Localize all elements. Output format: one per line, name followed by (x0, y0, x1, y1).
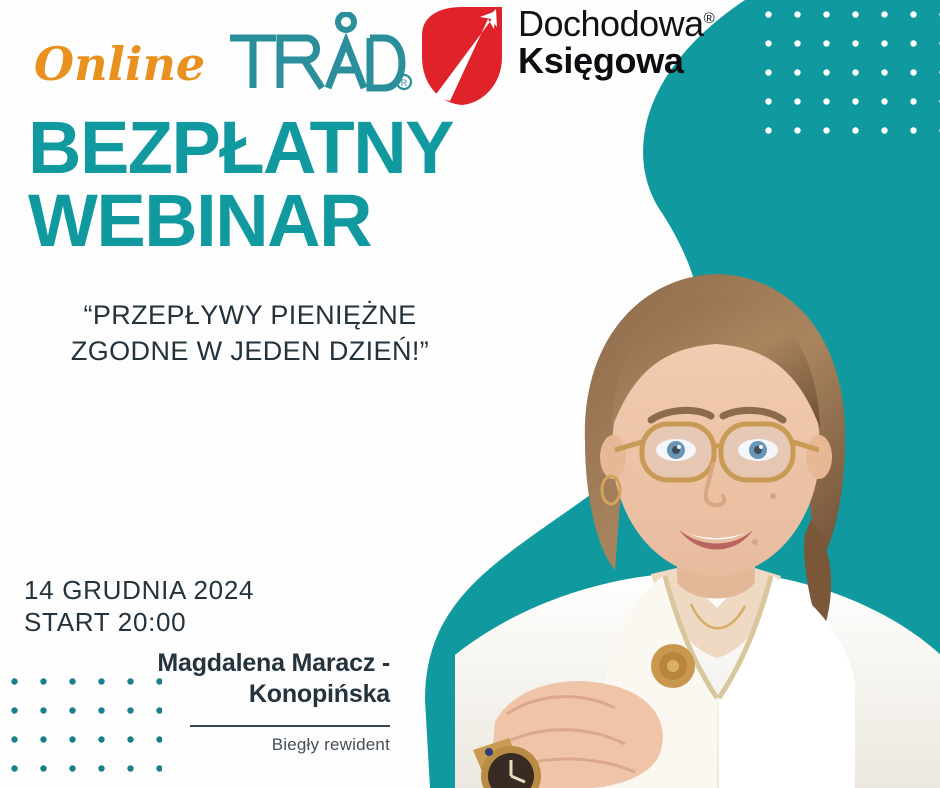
subtitle-line-2: ZGODNE W JEDEN DZIEŃ!” (30, 334, 470, 370)
svg-text:R: R (401, 78, 408, 88)
dochodowa-arrow-leaf-icon (414, 5, 510, 107)
ear-left (600, 435, 626, 479)
online-script-text: Online (34, 37, 205, 91)
headline-line-1: BEZPŁATNY (28, 112, 548, 185)
speaker-name-line-2: Konopińska (110, 679, 390, 710)
dochodowa-registered-mark: ® (704, 10, 715, 27)
trad-ring-icon (338, 14, 354, 30)
headline: BEZPŁATNY WEBINAR (28, 112, 548, 257)
speaker-role: Biegły rewident (110, 735, 390, 755)
dot-grid-top-right (752, 8, 940, 144)
schedule-time: START 20:00 (24, 606, 254, 638)
subtitle-quote: “PRZEPŁYWY PIENIĘŻNE ZGODNE W JEDEN DZIE… (30, 298, 470, 369)
trad-logo: R (224, 12, 414, 94)
speaker-block: Magdalena Maracz - Konopińska Biegły rew… (110, 648, 390, 755)
dochodowa-wordmark: Dochodowa® Księgowa (518, 6, 768, 79)
ear-right (806, 435, 832, 479)
headline-line-2: WEBINAR (28, 185, 548, 258)
online-script-label: Online (30, 26, 210, 98)
speaker-photo (455, 252, 940, 788)
dochodowa-ksiegowa-logo: Dochodowa® Księgowa (414, 2, 764, 110)
speaker-name: Magdalena Maracz - Konopińska (110, 648, 390, 709)
schedule-block: 14 GRUDNIA 2024 START 20:00 (24, 574, 254, 638)
speaker-portrait-illustration (455, 252, 940, 788)
schedule-date: 14 GRUDNIA 2024 (24, 574, 254, 606)
subtitle-line-1: “PRZEPŁYWY PIENIĘŻNE (30, 298, 470, 334)
ksiegowa-line2: Księgowa (518, 43, 768, 78)
dochodowa-line1: Dochodowa (518, 3, 704, 44)
webinar-poster: Online R (0, 0, 940, 788)
logo-row: Online R (0, 0, 760, 115)
speaker-name-line-1: Magdalena Maracz - (110, 648, 390, 679)
speaker-divider (190, 725, 390, 727)
